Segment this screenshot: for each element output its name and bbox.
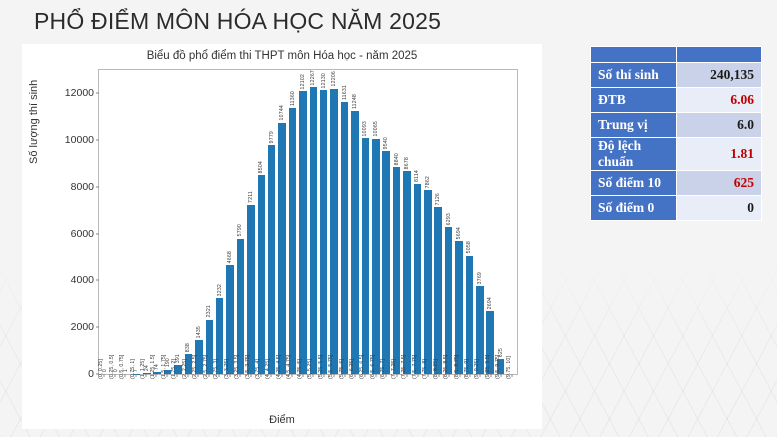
x-axis-tick-label: (0.5, 0.75]: [119, 355, 125, 379]
table-row: ĐTB6.06: [591, 88, 762, 113]
bar-value-label: 5058: [466, 241, 472, 253]
x-axis-tick-label: (2, 2.25]: [182, 359, 188, 379]
x-axis-tick-mark: [156, 374, 157, 377]
x-axis-tick-label: (5, 5.25]: [307, 359, 313, 379]
chart-bar-group[interactable]: 1: [121, 70, 131, 374]
chart-bar-group[interactable]: 625: [495, 70, 505, 374]
chart-bar[interactable]: [289, 108, 296, 374]
bar-value-label: 4668: [227, 251, 233, 263]
chart-bar[interactable]: [226, 265, 233, 374]
header-cell-label: [591, 47, 677, 63]
x-axis-tick-label: (6, 6.25]: [349, 359, 355, 379]
chart-bar[interactable]: [258, 175, 265, 374]
chart-bar-group[interactable]: 2321: [204, 70, 214, 374]
chart-bar-group[interactable]: 5058: [464, 70, 474, 374]
x-axis-tick-label: (0.75, 1]: [130, 359, 136, 379]
chart-bar-group[interactable]: 838: [183, 70, 193, 374]
bar-value-label: 3769: [477, 272, 483, 284]
bar-value-label: 3232: [217, 284, 223, 296]
chart-bar-group[interactable]: 8504: [256, 70, 266, 374]
chart-bar-group[interactable]: 0: [100, 70, 110, 374]
chart-bar-group[interactable]: 5790: [235, 70, 245, 374]
y-axis-tick-label: 4000: [71, 274, 94, 286]
slide-title: PHỔ ĐIỂM MÔN HÓA HỌC NĂM 2025: [34, 8, 441, 35]
chart-bar-group[interactable]: 5694: [454, 70, 464, 374]
bar-value-label: 8504: [258, 161, 264, 173]
chart-bar[interactable]: [393, 167, 400, 374]
chart-bar[interactable]: [351, 111, 358, 374]
chart-bar-group[interactable]: 2694: [485, 70, 495, 374]
table-row: Số điểm 00: [591, 196, 762, 221]
chart-bar-group[interactable]: 190: [162, 70, 172, 374]
x-axis-tick-label: (1.5, 1.75]: [161, 355, 167, 379]
stat-label: Số điểm 10: [591, 171, 677, 196]
bar-value-label: 12267: [310, 70, 316, 85]
chart-bar[interactable]: [362, 138, 369, 374]
chart-bar[interactable]: [278, 123, 285, 374]
x-axis-tick-label: (8, 8.25]: [433, 359, 439, 379]
stat-value: 240,135: [676, 63, 762, 88]
x-axis-tick-label: (7, 7.25]: [391, 359, 397, 379]
stat-value: 1.81: [676, 138, 762, 171]
chart-bar-group[interactable]: 8678: [402, 70, 412, 374]
table-header-row: [591, 47, 762, 63]
chart-bar-group[interactable]: 11360: [287, 70, 297, 374]
chart-title: Biểu đồ phổ điểm thi THPT môn Hóa học - …: [22, 50, 542, 62]
bar-value-label: 11631: [342, 85, 348, 100]
x-axis-tick-mark: [386, 374, 387, 377]
bar-value-label: 7862: [425, 176, 431, 188]
y-axis-tick-label: 6000: [71, 228, 94, 240]
chart-bar-group[interactable]: 12206: [329, 70, 339, 374]
chart-x-axis-label: Điểm: [22, 414, 542, 426]
chart-bar[interactable]: [424, 190, 431, 374]
x-axis-tick-mark: [271, 374, 272, 377]
bar-value-label: 8678: [404, 157, 410, 169]
chart-bar[interactable]: [372, 139, 379, 374]
bar-value-label: 5790: [237, 224, 243, 236]
x-axis-tick-label: (1, 1.25]: [140, 359, 146, 379]
chart-plot-area: 020004000600080001000012000 001724741903…: [98, 69, 518, 375]
bar-value-label: 838: [185, 343, 191, 352]
stat-label: Số thí sinh: [591, 63, 677, 88]
x-axis-tick-label: (9.75, 10]: [506, 356, 512, 379]
x-axis-tick-label: (2.5, 2.75]: [203, 355, 209, 379]
chart-bar-group[interactable]: 4668: [225, 70, 235, 374]
statistics-table-head: [591, 47, 762, 63]
table-row: Số điểm 10625: [591, 171, 762, 196]
chart-bar-group[interactable]: 74: [152, 70, 162, 374]
x-axis-tick-label: (4, 4.25]: [265, 359, 271, 379]
chart-bar[interactable]: [330, 89, 337, 374]
x-axis-tick-label: (3.75, 4]: [255, 359, 261, 379]
stat-label: ĐTB: [591, 88, 677, 113]
chart-bar-group[interactable]: 0: [110, 70, 120, 374]
chart-bar-group[interactable]: 1435: [194, 70, 204, 374]
bar-value-label: 10093: [362, 121, 368, 136]
y-axis-tick-label: 0: [88, 368, 94, 380]
chart-bar-group[interactable]: 6293: [443, 70, 453, 374]
chart-bar-group[interactable]: 10744: [277, 70, 287, 374]
chart-bar-group[interactable]: 12267: [308, 70, 318, 374]
chart-bar-group[interactable]: 10065: [371, 70, 381, 374]
chart-bar[interactable]: [341, 102, 348, 374]
x-axis-tick-label: (0.25, 0.5]: [109, 355, 115, 379]
bar-value-label: 11360: [290, 91, 296, 106]
x-axis-tick-label: (8.5, 8.75]: [454, 355, 460, 379]
bar-value-label: 11248: [352, 94, 358, 109]
bar-value-label: 7211: [248, 191, 254, 203]
bar-value-label: 1435: [196, 326, 202, 338]
x-axis-tick-label: (7.75, 8]: [422, 359, 428, 379]
chart-bar-group[interactable]: 12130: [319, 70, 329, 374]
chart-bar[interactable]: [299, 91, 306, 374]
stat-label: Độ lệch chuẩn: [591, 138, 677, 171]
chart-bar-group[interactable]: [506, 70, 516, 374]
chart-bar[interactable]: [445, 227, 452, 374]
y-axis-tick-label: 12000: [65, 87, 94, 99]
header-cell-value: [676, 47, 762, 63]
stat-value: 625: [676, 171, 762, 196]
x-axis-tick-label: (6.5, 6.75]: [370, 355, 376, 379]
bar-value-label: 6293: [446, 213, 452, 225]
x-axis-tick-label: (4.25, 4.5]: [276, 355, 282, 379]
statistics-table: Số thí sinh240,135ĐTB6.06Trung vị6.0Độ l…: [590, 46, 762, 221]
chart-bar-group[interactable]: 9779: [267, 70, 277, 374]
table-row: Độ lệch chuẩn1.81: [591, 138, 762, 171]
chart-bar-group[interactable]: 3769: [475, 70, 485, 374]
x-axis-tick-label: (6.75, 7]: [380, 359, 386, 379]
bar-value-label: 8840: [394, 153, 400, 165]
x-axis-tick-label: (5.25, 5.5]: [318, 355, 324, 379]
x-axis-tick-label: (1.25, 1.5]: [150, 355, 156, 379]
x-axis-tick-label: (1.75, 2]: [171, 359, 177, 379]
chart-bar-group[interactable]: 3232: [214, 70, 224, 374]
stat-value: 6.0: [676, 113, 762, 138]
chart-bar-group[interactable]: 12102: [298, 70, 308, 374]
slide-root: PHỔ ĐIỂM MÔN HÓA HỌC NĂM 2025 Biểu đồ ph…: [0, 0, 777, 437]
bar-value-label: 12130: [321, 73, 327, 88]
bar-value-label: 10744: [279, 105, 285, 120]
chart-bar-group[interactable]: 7862: [423, 70, 433, 374]
stat-value: 0: [676, 196, 762, 221]
stat-value: 6.06: [676, 88, 762, 113]
bar-value-label: 7126: [435, 193, 441, 205]
bar-value-label: 10065: [373, 121, 379, 136]
x-axis-tick-label: (3, 3.25]: [224, 359, 230, 379]
bar-value-label: 8114: [414, 170, 420, 182]
x-axis-tick-mark: [480, 374, 481, 377]
x-axis-tick-label: (5.75, 6]: [339, 359, 345, 379]
x-axis-tick-label: (2.25, 2.5]: [192, 355, 198, 379]
stat-label: Trung vị: [591, 113, 677, 138]
chart-bar[interactable]: [466, 256, 473, 374]
x-axis-tick-label: (5.5, 5.75]: [328, 355, 334, 379]
stat-label: Số điểm 0: [591, 196, 677, 221]
x-axis-tick-label: (3.25, 3.5]: [234, 355, 240, 379]
chart-bar-group[interactable]: 7126: [433, 70, 443, 374]
x-axis-tick-label: (8.25, 8.5]: [443, 355, 449, 379]
x-axis-tick-label: (0, 0.25]: [98, 359, 104, 379]
chart-bar[interactable]: [268, 145, 275, 374]
x-axis-tick-label: (3.5, 3.75]: [245, 355, 251, 379]
chart-bars: 0017247419039183814352321323246685790721…: [99, 70, 517, 374]
chart-bar-group[interactable]: 8114: [412, 70, 422, 374]
x-axis-tick-mark: [365, 374, 366, 377]
chart-bar[interactable]: [247, 205, 254, 374]
chart-bar-group[interactable]: 8840: [391, 70, 401, 374]
y-axis-tick-label: 10000: [65, 134, 94, 146]
x-axis-tick-mark: [177, 374, 178, 377]
chart-bar[interactable]: [403, 171, 410, 374]
table-row: Trung vị6.0: [591, 113, 762, 138]
chart-bar[interactable]: [310, 87, 317, 374]
chart-y-axis-label: Số lượng thí sinh: [28, 80, 40, 164]
bar-value-label: 2321: [206, 305, 212, 317]
x-axis-tick-label: (4.75, 5]: [297, 359, 303, 379]
x-axis-tick-label: (9.5, 9.75]: [495, 355, 501, 379]
x-axis-tick-label: (2.75, 3]: [213, 359, 219, 379]
bar-value-label: 12102: [300, 74, 306, 89]
chart-bar-group[interactable]: 7211: [246, 70, 256, 374]
chart-bar-group[interactable]: 391: [173, 70, 183, 374]
bar-value-label: 9779: [269, 131, 275, 143]
y-axis-tick-label: 2000: [71, 321, 94, 333]
chart-card: Biểu đồ phổ điểm thi THPT môn Hóa học - …: [22, 44, 542, 429]
chart-bar[interactable]: [434, 207, 441, 374]
x-axis-tick-label: (8.75, 9]: [464, 359, 470, 379]
x-axis-tick-label: (9.25, 9.5]: [485, 355, 491, 379]
chart-bar[interactable]: [414, 184, 421, 374]
chart-bar-group[interactable]: 7: [131, 70, 141, 374]
x-axis-tick-label: (7.25, 7.5]: [401, 355, 407, 379]
x-axis-tick-label: (9, 9.25]: [474, 359, 480, 379]
chart-bar[interactable]: [382, 151, 389, 374]
chart-bar-group[interactable]: 9540: [381, 70, 391, 374]
bar-value-label: 12206: [331, 71, 337, 86]
x-axis-tick-label: (6.25, 6.5]: [359, 355, 365, 379]
y-axis-tick-label: 8000: [71, 181, 94, 193]
chart-bar-group[interactable]: 24: [142, 70, 152, 374]
chart-bar[interactable]: [320, 90, 327, 374]
bar-value-label: 5694: [456, 227, 462, 239]
bar-value-label: 2694: [487, 297, 493, 309]
chart-bar-group[interactable]: 11631: [339, 70, 349, 374]
bar-value-label: 9540: [383, 137, 389, 149]
chart-bar-group[interactable]: 11248: [350, 70, 360, 374]
statistics-table-body: Số thí sinh240,135ĐTB6.06Trung vị6.0Độ l…: [591, 63, 762, 221]
x-axis-tick-label: (7.5, 7.75]: [412, 355, 418, 379]
table-row: Số thí sinh240,135: [591, 63, 762, 88]
chart-bar-group[interactable]: 10093: [360, 70, 370, 374]
x-axis-tick-label: (4.5, 4.75]: [286, 355, 292, 379]
